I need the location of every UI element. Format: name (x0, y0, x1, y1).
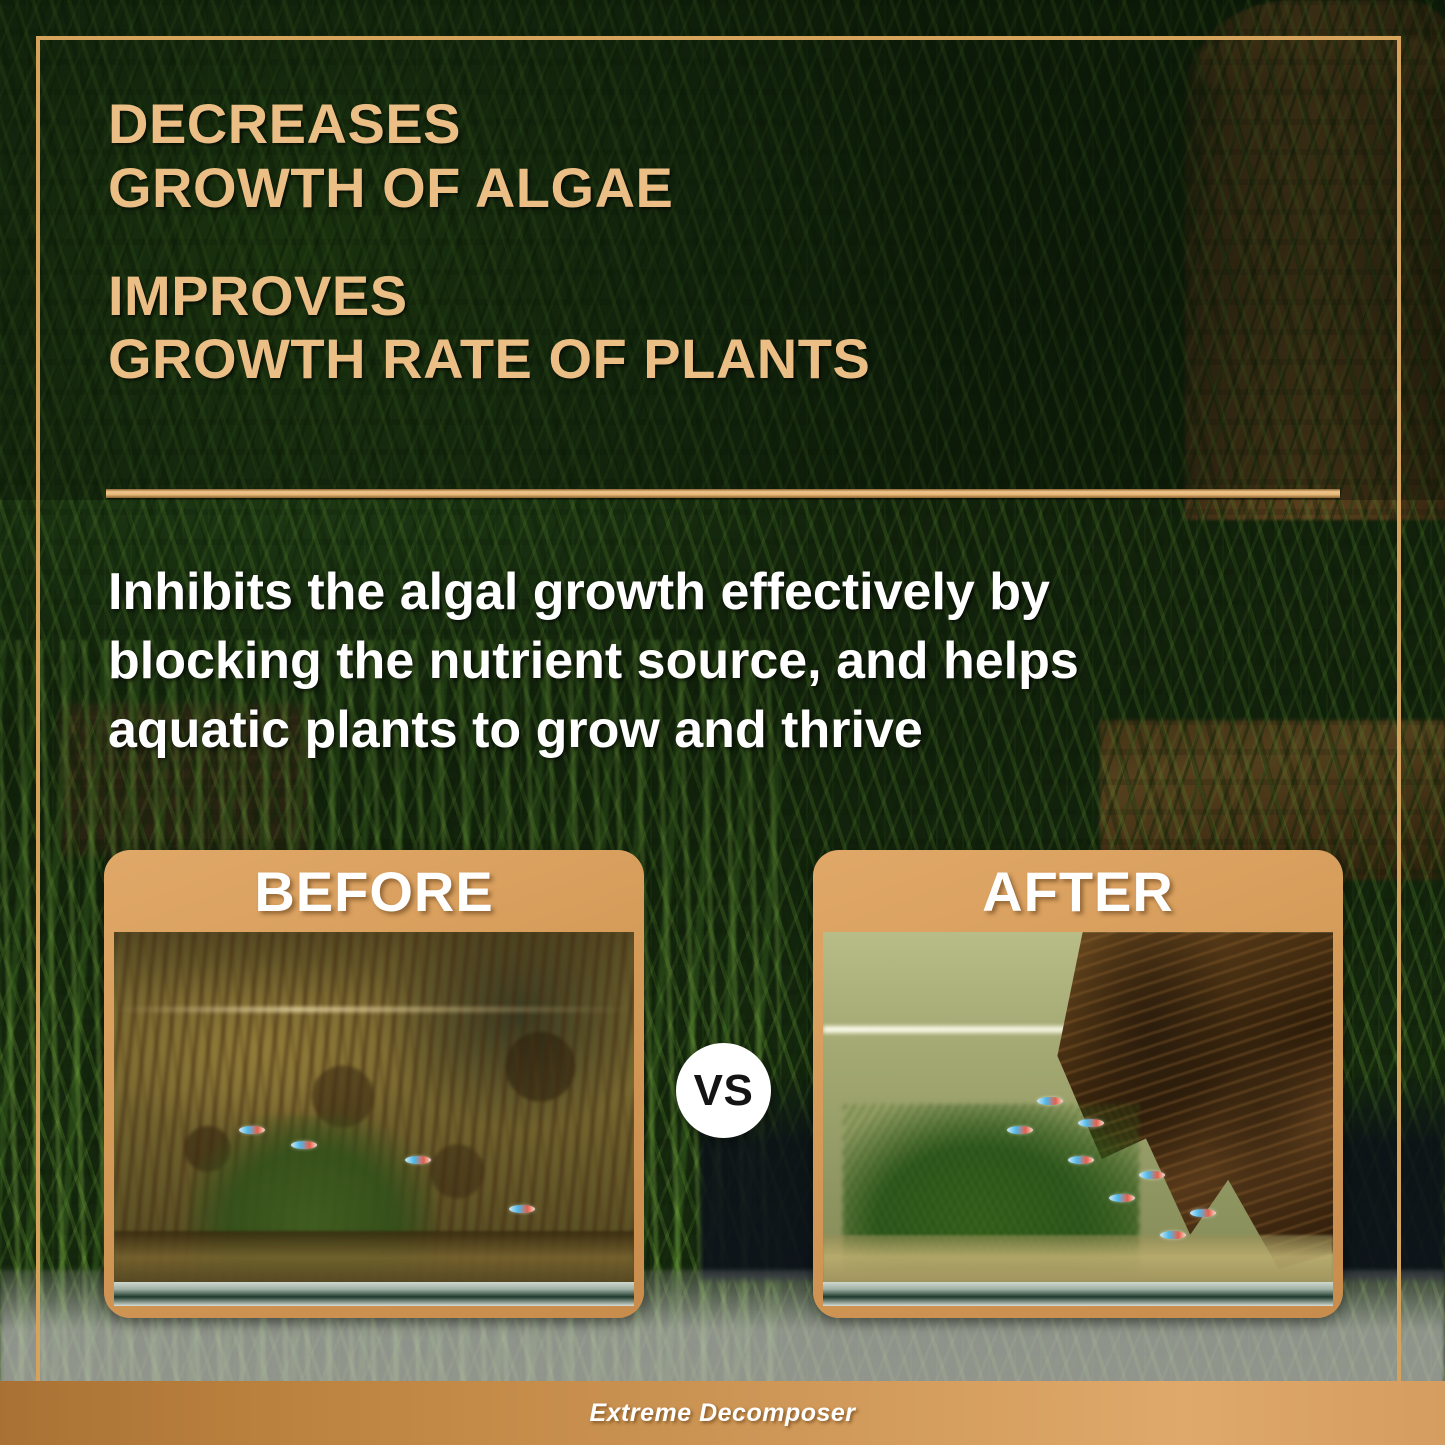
after-aquarium-photo (823, 932, 1333, 1306)
description-line-1: Inhibits the algal growth effectively by (108, 558, 1298, 627)
before-aquarium-photo (114, 932, 634, 1306)
after-tank-fish (1078, 1119, 1104, 1127)
before-tank-light-streak (114, 1007, 634, 1012)
section-divider (106, 489, 1340, 498)
after-card: AFTER (813, 850, 1343, 1318)
headline-group: DECREASES GROWTH OF ALGAE IMPROVES GROWT… (108, 92, 1258, 391)
headline-improves-line1: IMPROVES (108, 264, 1258, 328)
after-card-label: AFTER (813, 850, 1343, 932)
footer-product-name: Extreme Decomposer (589, 1399, 855, 1428)
after-tank-fish (1109, 1194, 1135, 1202)
vs-badge: VS (676, 1043, 771, 1138)
before-tank-rim (114, 1282, 634, 1306)
headline-improves-line2: GROWTH RATE OF PLANTS (108, 327, 1258, 391)
description-line-3: aquatic plants to grow and thrive (108, 696, 1298, 765)
after-tank-sand (823, 1235, 1333, 1284)
description-paragraph: Inhibits the algal growth effectively by… (108, 558, 1298, 765)
after-tank-fish (1190, 1209, 1216, 1217)
headline-decreases-line1: DECREASES (108, 92, 1258, 156)
description-line-2: blocking the nutrient source, and helps (108, 627, 1298, 696)
before-card-label: BEFORE (104, 850, 644, 932)
footer-bar: Extreme Decomposer (0, 1381, 1445, 1445)
after-tank-rim (823, 1282, 1333, 1306)
before-tank-substrate (114, 1231, 634, 1283)
before-card: BEFORE (104, 850, 644, 1318)
headline-decreases-line2: GROWTH OF ALGAE (108, 156, 1258, 220)
after-tank-fish (1037, 1097, 1063, 1105)
product-feature-poster: DECREASES GROWTH OF ALGAE IMPROVES GROWT… (0, 0, 1445, 1445)
